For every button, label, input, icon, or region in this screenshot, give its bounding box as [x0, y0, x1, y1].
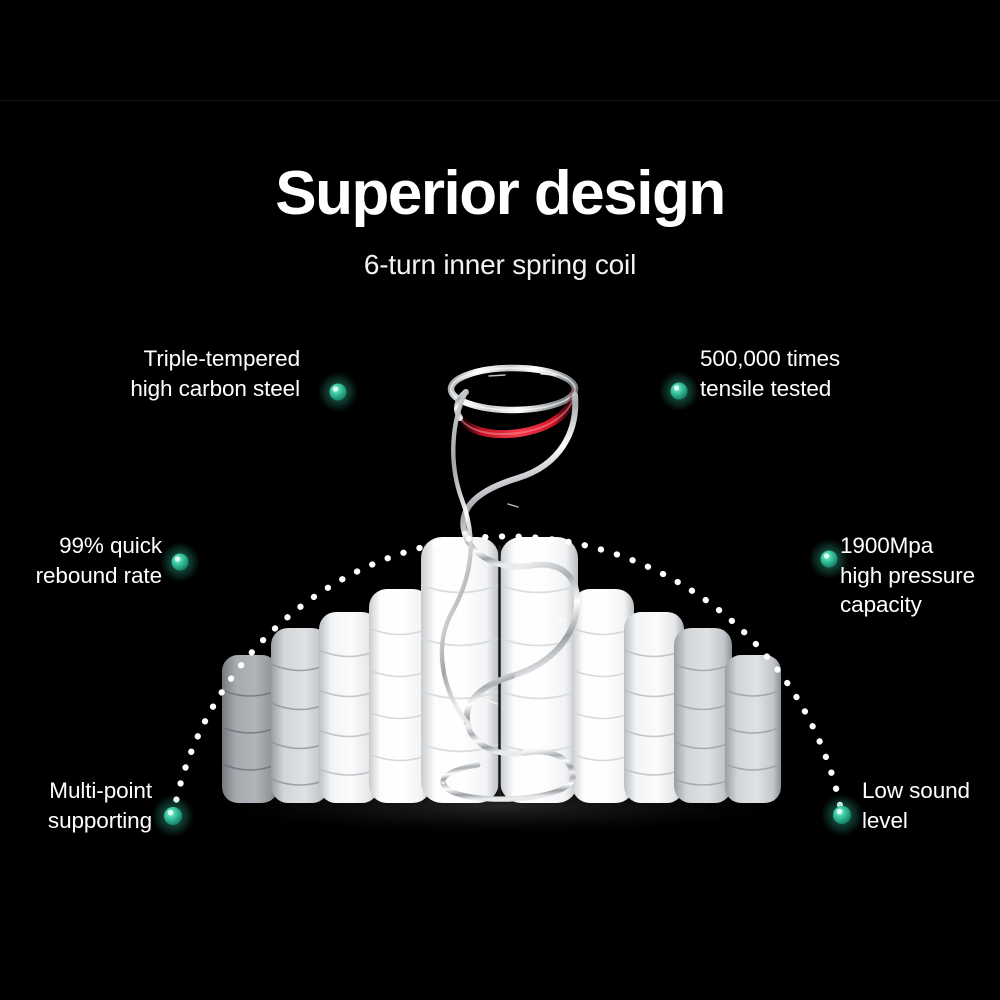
product-illustration	[0, 0, 1000, 1000]
feature-label-quick-rebound-rate: 99% quick rebound rate	[0, 531, 162, 590]
feature-label-tensile-tested: 500,000 times tensile tested	[700, 344, 970, 403]
pocket-spring	[725, 655, 781, 803]
pocket-spring-row	[222, 537, 781, 803]
page-subtitle: 6-turn inner spring coil	[0, 249, 1000, 281]
pocket-spring	[421, 537, 499, 803]
letterbox-top	[0, 0, 1000, 101]
feature-label-multi-point-supporting: Multi-point supporting	[0, 776, 152, 835]
page-title: Superior design	[0, 161, 1000, 226]
feature-label-high-pressure-capacity: 1900Mpa high pressure capacity	[840, 531, 1000, 620]
feature-label-low-sound-level: Low sound level	[862, 776, 1000, 835]
feature-label-triple-tempered-high-carbon-steel: Triple-tempered high carbon steel	[40, 344, 300, 403]
letterbox-bottom	[0, 900, 1000, 1000]
pocket-spring	[222, 655, 278, 803]
infographic-canvas: Superior design 6-turn inner spring coil…	[0, 0, 1000, 1000]
pocket-spring	[674, 628, 732, 803]
